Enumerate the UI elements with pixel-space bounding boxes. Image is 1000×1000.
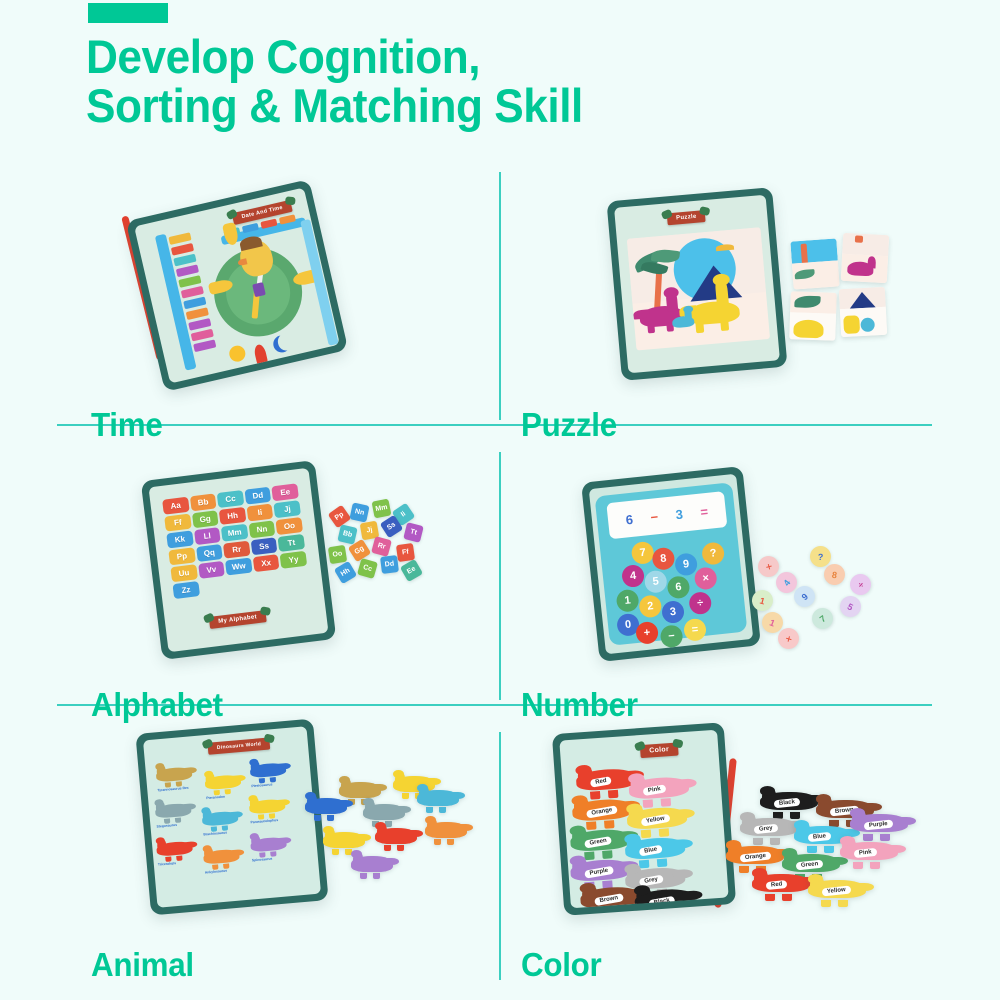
color-piece-purple[interactable]: Purple bbox=[850, 810, 908, 838]
dino-leg bbox=[720, 319, 729, 331]
animal-species: Brachiosaurus bbox=[201, 806, 243, 839]
accent-bar bbox=[88, 3, 168, 23]
scene-dino-blue bbox=[671, 305, 701, 333]
alphabet-letter: Jj bbox=[274, 500, 301, 518]
alphabet-tile[interactable]: Nn bbox=[349, 502, 369, 522]
alphabet-letter: Ll bbox=[194, 527, 221, 545]
display-symbol: 3 bbox=[675, 506, 684, 522]
dinosaur-figure bbox=[250, 832, 288, 855]
alphabet-letter: Zz bbox=[172, 581, 199, 599]
dinosaur-figure bbox=[201, 807, 239, 830]
binder-page-color: Color RedPinkOrangeYellowGreenBluePurple… bbox=[559, 730, 728, 909]
alphabet-letter: Aa bbox=[162, 497, 189, 515]
dino-head bbox=[683, 305, 694, 313]
binder-time: Date And Time bbox=[126, 179, 349, 392]
display-symbol: = bbox=[700, 503, 709, 519]
color-dino-pink: Pink bbox=[628, 772, 690, 806]
alphabet-tile[interactable]: Cc bbox=[357, 558, 378, 579]
product-cell-animal[interactable]: Dinosaurs World Tyrannosaurus RexPterano… bbox=[57, 712, 500, 980]
cell-label-animal: Animal bbox=[91, 946, 194, 984]
animal-species-label: Spinosaurus bbox=[252, 857, 273, 863]
alphabet-tile[interactable]: Hh bbox=[334, 561, 357, 584]
color-piece-grey[interactable]: Grey bbox=[740, 814, 798, 842]
animal-piece[interactable] bbox=[363, 800, 405, 824]
animal-species: Triceratops bbox=[156, 836, 198, 869]
color-piece-red[interactable]: Red bbox=[752, 870, 810, 898]
color-dino-green: Green bbox=[569, 824, 631, 858]
animal-species: Plesiosaurus bbox=[249, 758, 291, 791]
dino-leg bbox=[647, 324, 655, 334]
alphabet-letter: Mm bbox=[221, 524, 248, 542]
animal-species: Ankylosaurus bbox=[203, 844, 245, 877]
alphabet-letter: Ee bbox=[272, 483, 299, 501]
product-photo-animal: Dinosaurs World Tyrannosaurus RexPterano… bbox=[125, 716, 465, 928]
animal-species: Parasaurolophus bbox=[248, 794, 290, 827]
product-photo-alphabet: AaBbCcDdEeFfGgHhIiJjKkLlMmNnOoPpQqRrSsTt… bbox=[133, 460, 463, 670]
product-photo-time: Date And Time bbox=[129, 180, 359, 390]
animal-species: Tyrannosaurus Rex bbox=[155, 762, 197, 795]
product-photo-color: Color RedPinkOrangeYellowGreenBluePurple… bbox=[544, 718, 904, 930]
alphabet-tile[interactable]: Rr bbox=[371, 536, 392, 557]
product-title-color: Color bbox=[640, 742, 679, 758]
alphabet-letter: Pp bbox=[168, 547, 195, 565]
product-photo-puzzle: Puzzle bbox=[596, 182, 896, 387]
alphabet-tile[interactable]: Ee bbox=[400, 559, 423, 582]
product-title-animal: Dinosaurs World bbox=[207, 737, 270, 754]
animal-species: Pteranodon bbox=[204, 770, 246, 803]
product-cell-number[interactable]: 6−3= 789?456×123÷0+−= ×?48÷19175× Number bbox=[516, 452, 959, 720]
alphabet-letter: Dd bbox=[244, 487, 271, 505]
alphabet-letter: Oo bbox=[276, 517, 303, 535]
puzzle-card[interactable] bbox=[790, 238, 839, 289]
color-piece-pink[interactable]: Pink bbox=[840, 838, 898, 866]
number-token[interactable]: 8 bbox=[822, 562, 846, 586]
product-cell-color[interactable]: Color RedPinkOrangeYellowGreenBluePurple… bbox=[516, 712, 959, 980]
number-token[interactable]: 7 bbox=[808, 604, 837, 633]
alphabet-letter: Gg bbox=[192, 510, 219, 528]
sun-icon bbox=[228, 344, 247, 363]
animal-piece[interactable] bbox=[305, 794, 347, 818]
animal-piece[interactable] bbox=[351, 852, 393, 876]
animal-piece[interactable] bbox=[417, 786, 459, 810]
puzzle-card[interactable] bbox=[841, 233, 889, 283]
alphabet-letter: Xx bbox=[253, 554, 280, 572]
product-photo-number: 6−3= 789?456×123÷0+−= ×?48÷19175× bbox=[572, 460, 892, 670]
alphabet-grid: AaBbCcDdEeFfGgHhIiJjKkLlMmNnOoPpQqRrSsTt… bbox=[162, 483, 309, 599]
alphabet-tile[interactable]: Tt bbox=[403, 522, 424, 543]
binder-color: Color RedPinkOrangeYellowGreenBluePurple… bbox=[552, 722, 736, 916]
binder-page-animal: Dinosaurs World Tyrannosaurus RexPterano… bbox=[143, 726, 321, 908]
binder-page-number: 6−3= 789?456×123÷0+−= bbox=[589, 474, 754, 655]
animal-piece[interactable] bbox=[375, 824, 417, 848]
alphabet-letter: Nn bbox=[248, 520, 275, 538]
animal-species-label: Tyrannosaurus Rex bbox=[157, 786, 189, 793]
display-symbol: − bbox=[650, 509, 659, 525]
product-cell-puzzle[interactable]: Puzzle bbox=[516, 172, 959, 440]
binder-page-alphabet: AaBbCcDdEeFfGgHhIiJjKkLlMmNnOoPpQqRrSsTt… bbox=[148, 468, 328, 652]
binder-page-puzzle: Puzzle bbox=[614, 195, 780, 374]
alphabet-tile[interactable]: Dd bbox=[380, 555, 399, 574]
alphabet-letter: Kk bbox=[166, 530, 193, 548]
animal-species-board: Tyrannosaurus RexPteranodonPlesiosaurusS… bbox=[143, 726, 306, 740]
alphabet-tile[interactable]: Bb bbox=[337, 524, 357, 544]
time-chip bbox=[193, 339, 216, 352]
color-dino-board: RedPinkOrangeYellowGreenBluePurpleGreyBr… bbox=[559, 730, 717, 741]
product-grid: Date And Time bbox=[0, 160, 1000, 1000]
dinosaur-figure bbox=[249, 758, 287, 781]
alphabet-tile[interactable]: Mm bbox=[372, 499, 392, 519]
alphabet-letter: Vv bbox=[198, 561, 225, 579]
animal-species-label: Plesiosaurus bbox=[251, 782, 272, 788]
product-title-puzzle: Puzzle bbox=[667, 210, 706, 225]
alphabet-tile[interactable]: Pp bbox=[328, 505, 352, 529]
number-token[interactable]: ? bbox=[809, 545, 831, 567]
color-piece-black[interactable]: Black bbox=[760, 788, 818, 816]
product-title-alphabet: My Alphabet bbox=[209, 610, 267, 629]
animal-species-label: Triceratops bbox=[158, 861, 177, 867]
animal-species-label: Parasaurolophus bbox=[250, 818, 278, 824]
dinosaur-figure bbox=[154, 799, 192, 822]
puzzle-scene bbox=[627, 227, 770, 350]
page-title: Develop Cognition, Sorting & Matching Sk… bbox=[86, 32, 876, 130]
color-piece-orange[interactable]: Orange bbox=[726, 842, 784, 870]
alphabet-letter: Rr bbox=[223, 541, 250, 559]
alphabet-letter: Ss bbox=[250, 537, 277, 555]
color-dino-yellow: Yellow bbox=[626, 802, 688, 836]
color-dino-brown: Brown bbox=[579, 881, 641, 908]
alphabet-letter: Tt bbox=[278, 534, 305, 552]
animal-piece[interactable] bbox=[425, 818, 467, 842]
binder-page-time: Date And Time bbox=[134, 187, 340, 383]
moon-icon bbox=[272, 334, 292, 354]
binder-alphabet: AaBbCcDdEeFfGgHhIiJjKkLlMmNnOoPpQqRrSsTt… bbox=[141, 460, 337, 660]
product-cell-alphabet[interactable]: AaBbCcDdEeFfGgHhIiJjKkLlMmNnOoPpQqRrSsTt… bbox=[57, 452, 500, 720]
animal-species-label: Pteranodon bbox=[206, 795, 225, 801]
alphabet-letter: Ii bbox=[246, 504, 273, 522]
alphabet-letter: Ww bbox=[225, 558, 252, 576]
alphabet-letter: Yy bbox=[280, 551, 307, 569]
puzzle-card[interactable] bbox=[839, 287, 887, 337]
animal-species-label: Ankylosaurus bbox=[205, 869, 228, 875]
dinosaur-figure bbox=[248, 794, 286, 817]
number-token[interactable]: 5 bbox=[836, 592, 864, 620]
color-dino-orange: Orange bbox=[571, 794, 633, 828]
animal-species: Stegosaurus bbox=[154, 798, 196, 831]
display-symbol: 6 bbox=[625, 511, 634, 527]
binder-number: 6−3= 789?456×123÷0+−= bbox=[581, 466, 761, 662]
puzzle-card[interactable] bbox=[789, 291, 837, 341]
dinosaur-figure bbox=[203, 845, 241, 868]
animal-species-label: Stegosaurus bbox=[156, 823, 177, 829]
alphabet-letter: Hh bbox=[219, 507, 246, 525]
binder-animal: Dinosaurs World Tyrannosaurus RexPterano… bbox=[135, 719, 328, 916]
alphabet-letter: Qq bbox=[196, 544, 223, 562]
dinosaur-figure bbox=[156, 837, 194, 860]
dinosaur-figure bbox=[155, 762, 193, 785]
rocket-icon bbox=[253, 343, 268, 365]
alphabet-tile[interactable]: Oo bbox=[328, 545, 347, 564]
cell-label-time: Time bbox=[91, 406, 162, 444]
color-piece-yellow[interactable]: Yellow bbox=[808, 876, 866, 904]
dinosaur-figure bbox=[204, 770, 242, 793]
animal-species: Spinosaurus bbox=[250, 832, 292, 865]
product-cell-time[interactable]: Date And Time bbox=[57, 172, 500, 440]
alphabet-letter: Uu bbox=[170, 564, 197, 582]
binder-puzzle: Puzzle bbox=[606, 187, 787, 381]
color-dino-black: Black bbox=[634, 884, 696, 909]
cell-label-puzzle: Puzzle bbox=[521, 406, 617, 444]
animal-piece[interactable] bbox=[323, 828, 365, 852]
dino-head bbox=[712, 273, 730, 286]
alphabet-letter: Bb bbox=[189, 493, 216, 511]
alphabet-letter: Cc bbox=[217, 490, 244, 508]
animal-species-label: Brachiosaurus bbox=[203, 830, 227, 836]
alphabet-letter: Ff bbox=[164, 514, 191, 532]
cell-label-color: Color bbox=[521, 946, 601, 984]
